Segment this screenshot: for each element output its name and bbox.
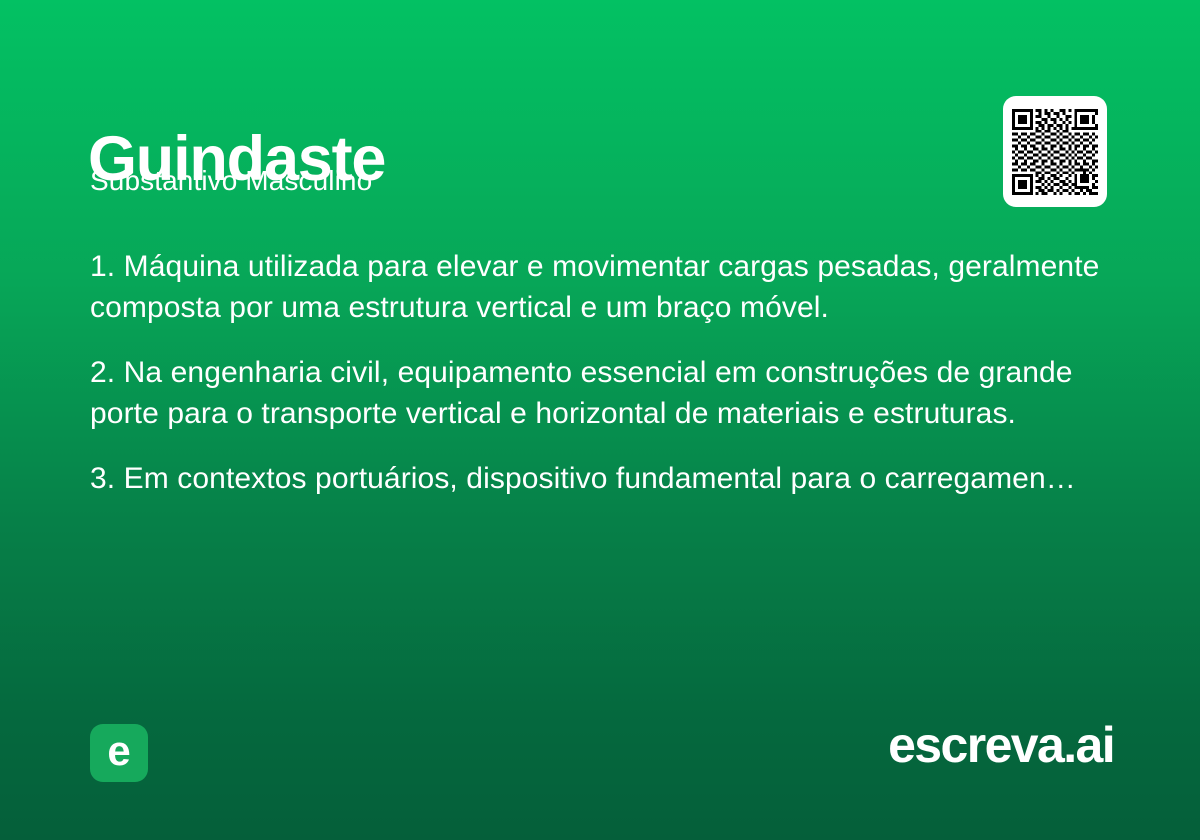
definition-item: 3. Em contextos portuários, dispositivo … — [90, 458, 1112, 499]
word-class-label: Substantivo Masculino — [90, 166, 372, 197]
definition-list: 1. Máquina utilizada para elevar e movim… — [90, 246, 1112, 499]
qr-code-icon — [1012, 109, 1098, 195]
word-definition-card: Guindaste Substantivo Masculino 1. Máqui… — [0, 0, 1200, 840]
brand-wordmark: escreva.ai — [888, 718, 1114, 773]
definition-item: 1. Máquina utilizada para elevar e movim… — [90, 246, 1112, 328]
brand-logo[interactable]: e — [90, 724, 148, 782]
brand-logo-letter: e — [107, 730, 130, 772]
definition-item: 2. Na engenharia civil, equipamento esse… — [90, 352, 1112, 434]
qr-code-card[interactable] — [1003, 96, 1107, 207]
